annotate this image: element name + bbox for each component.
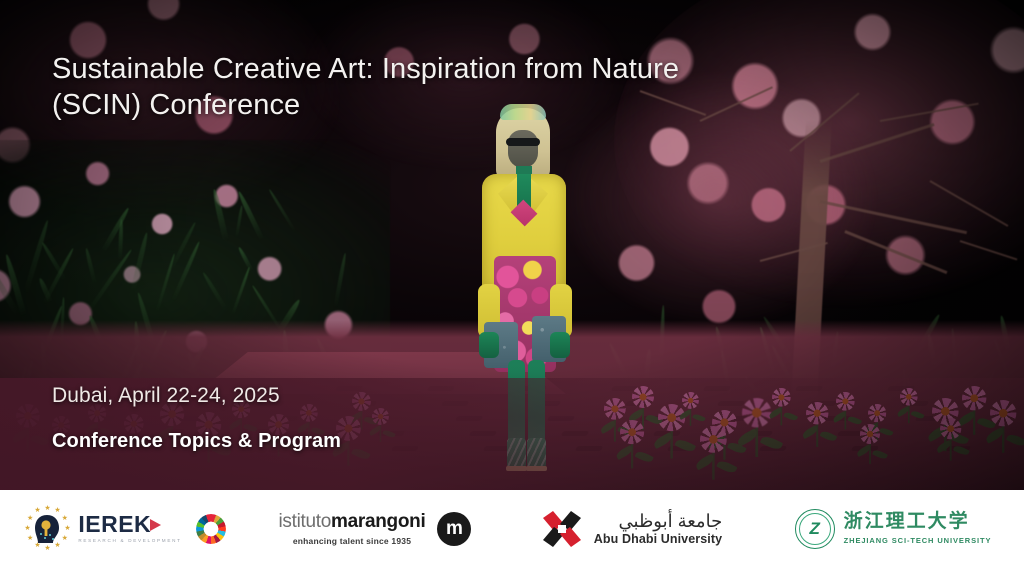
flower-petals <box>962 386 986 410</box>
conference-banner: Sustainable Creative Art: Inspiration fr… <box>0 0 1024 567</box>
model-cuff-left <box>479 332 499 358</box>
ierek-star-icon: ★ <box>34 543 40 549</box>
ierek-red-flag-icon <box>149 517 162 533</box>
ierek-star-icon: ★ <box>27 516 33 522</box>
sdg-wheel-icon <box>196 514 226 544</box>
flower-petals <box>990 400 1016 426</box>
model-cuff-right <box>550 332 570 358</box>
adu-name-english: Abu Dhabi University <box>594 532 722 546</box>
model-face <box>508 130 538 168</box>
flower-petals <box>806 402 828 424</box>
flower-petals <box>940 418 961 439</box>
flower-petals <box>16 404 40 428</box>
ierek-star-icon: ★ <box>34 508 40 514</box>
flower-petals <box>742 398 771 427</box>
ierek-star-icon: ★ <box>64 526 70 532</box>
title-line-2: (SCIN) Conference <box>52 88 752 124</box>
ierek-star-icon: ★ <box>62 536 68 542</box>
head-silhouette-svg <box>33 514 61 544</box>
runway-mark <box>703 386 732 391</box>
logo-abu-dhabi-university[interactable]: جامعة أبوظبي Abu Dhabi University <box>500 490 762 567</box>
runway-mark <box>795 386 824 391</box>
adu-weave-icon <box>540 508 584 550</box>
model-sunglasses <box>506 138 540 146</box>
head-profile-icon: ★★★★★★★★★★★★ <box>24 506 70 552</box>
ierek-star-icon: ★ <box>27 536 33 542</box>
runway-mark <box>427 386 456 391</box>
marangoni-name-bold: marangoni <box>331 511 425 532</box>
sponsor-logo-bar: ★★★★★★★★★★★★ IEREK RESEARCH & DEVELOPMEN… <box>0 490 1024 567</box>
ierek-star-icon: ★ <box>62 516 68 522</box>
ierek-star-icon: ★ <box>44 506 50 512</box>
flower-petals <box>632 386 654 408</box>
zstu-seal-letter: Z <box>809 519 819 539</box>
runway-mark <box>575 446 604 451</box>
flower-petals <box>836 392 855 411</box>
model-sole-right <box>526 466 547 471</box>
model-sole-left <box>506 466 527 471</box>
runway-mark <box>391 446 420 451</box>
title-line-1: Sustainable Creative Art: Inspiration fr… <box>52 52 752 88</box>
runway-mark <box>441 401 470 406</box>
flower-petals <box>604 398 626 420</box>
flower-petals <box>620 420 644 444</box>
zstu-name-chinese: 浙江理工大学 <box>844 512 992 533</box>
date-location-text: Dubai, April 22-24, 2025 <box>52 384 341 408</box>
flower-petals <box>352 392 371 411</box>
logo-zhejiang-sci-tech[interactable]: Z 浙江理工大学 ZHEJIANG SCI-TECH UNIVERSITY <box>762 490 1024 567</box>
ierek-subtitle: RESEARCH & DEVELOPMENT <box>78 539 181 544</box>
logo-marangoni[interactable]: istitutomarangoni enhancing talent since… <box>250 490 500 567</box>
zstu-seal-icon: Z <box>795 509 835 549</box>
zstu-name-english: ZHEJIANG SCI-TECH UNIVERSITY <box>844 536 992 545</box>
conference-topics-link[interactable]: Conference Topics & Program <box>52 430 341 453</box>
marangoni-tagline: enhancing talent since 1935 <box>293 536 411 546</box>
flower-petals <box>772 388 791 407</box>
runway-mark <box>717 401 746 406</box>
marangoni-roundel-icon: m <box>437 512 471 546</box>
ierek-wordmark: IEREK <box>78 513 181 536</box>
flower-petals <box>372 408 389 425</box>
flower-petals <box>900 388 918 406</box>
ierek-star-icon: ★ <box>24 526 30 532</box>
flower-petals <box>700 426 727 453</box>
ierek-star-icon: ★ <box>54 543 60 549</box>
flower-petals <box>868 404 886 422</box>
flower-petals <box>860 424 880 444</box>
adu-name-arabic: جامعة أبوظبي <box>594 511 722 532</box>
runway-model <box>470 108 578 490</box>
ierek-star-icon: ★ <box>44 546 50 552</box>
ierek-name: IEREK <box>78 513 151 536</box>
logo-ierek[interactable]: ★★★★★★★★★★★★ IEREK RESEARCH & DEVELOPMEN… <box>0 490 250 567</box>
marangoni-name-light: istituto <box>279 511 332 532</box>
flower-petals <box>682 392 699 409</box>
marangoni-wordmark: istitutomarangoni <box>279 511 426 533</box>
banner-title: Sustainable Creative Art: Inspiration fr… <box>52 52 752 124</box>
banner-meta: Dubai, April 22-24, 2025 Conference Topi… <box>52 384 341 453</box>
ierek-star-icon: ★ <box>54 508 60 514</box>
